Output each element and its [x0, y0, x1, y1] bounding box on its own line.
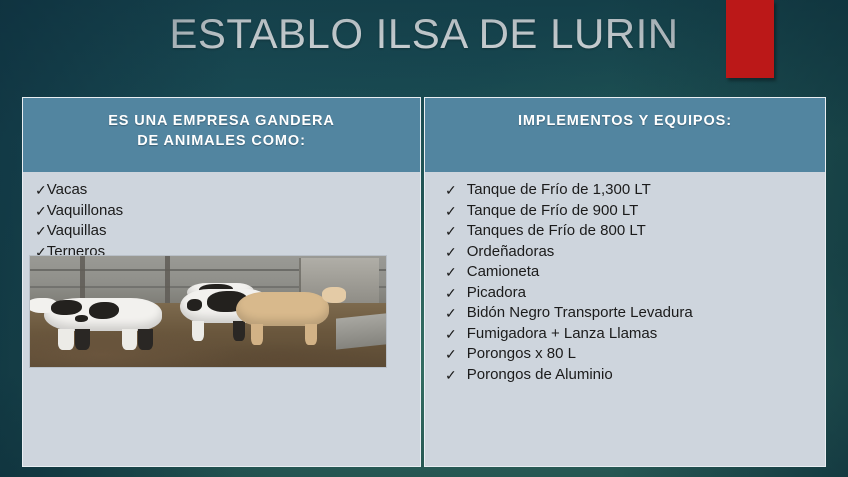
list-item-label: Porongos x 80 L [467, 344, 576, 365]
check-icon: ✓ [35, 221, 47, 242]
feed-trough [336, 313, 386, 349]
right-column-header: IMPLEMENTOS Y EQUIPOS: [425, 98, 825, 172]
list-item: ✓ Porongos x 80 L [445, 344, 815, 365]
list-item-label: Camioneta [467, 262, 540, 283]
cow-leg [305, 324, 317, 345]
list-item: ✓ Vacas [35, 180, 410, 201]
cow-leg [138, 329, 153, 350]
cow-leg [122, 329, 137, 350]
cattle-photo [29, 255, 387, 368]
check-icon: ✓ [35, 180, 47, 201]
check-icon: ✓ [445, 303, 457, 324]
list-item-label: Tanque de Frío de 900 LT [467, 201, 639, 222]
right-column-body: ✓ Tanque de Frío de 1,300 LT ✓ Tanque de… [425, 172, 825, 466]
cow-patch [89, 302, 120, 319]
cow-patch [75, 315, 88, 322]
cow-patch [187, 299, 202, 310]
check-icon: ✓ [445, 262, 457, 283]
list-item: ✓ Tanque de Frío de 1,300 LT [445, 180, 815, 201]
cow-holstein-left [44, 298, 161, 331]
cow-body [236, 292, 329, 326]
check-icon: ✓ [445, 344, 457, 365]
left-header-line-1: ES UNA EMPRESA GANDERA [23, 111, 420, 131]
red-accent-bar [726, 0, 774, 78]
list-item-label: Porongos de Aluminio [467, 365, 613, 386]
check-icon: ✓ [35, 201, 47, 222]
list-item-label: Fumigadora + Lanza Llamas [467, 324, 658, 345]
equipment-list: ✓ Tanque de Frío de 1,300 LT ✓ Tanque de… [435, 180, 815, 385]
list-item: ✓ Picadora [445, 283, 815, 304]
list-item: ✓ Vaquillonas [35, 201, 410, 222]
list-item-label: Vaquillonas [47, 201, 123, 222]
cow-leg [192, 321, 204, 342]
left-column-body: ✓ Vacas ✓ Vaquillonas ✓ Vaquillas ✓ Tern… [23, 172, 420, 466]
cow-jersey-right [236, 292, 329, 326]
cow-leg [75, 329, 90, 350]
list-item: ✓ Tanque de Frío de 900 LT [445, 201, 815, 222]
content-table: ES UNA EMPRESA GANDERA DE ANIMALES COMO:… [22, 97, 826, 467]
list-item-label: Tanque de Frío de 1,300 LT [467, 180, 651, 201]
fence-post [165, 256, 170, 305]
cow-head [322, 287, 346, 303]
page-title: ESTABLO ILSA DE LURIN [0, 8, 848, 60]
check-icon: ✓ [445, 365, 457, 386]
left-header-line-2: DE ANIMALES COMO: [23, 131, 420, 151]
list-item-label: Vaquillas [47, 221, 107, 242]
list-item-label: Bidón Negro Transporte Levadura [467, 303, 693, 324]
left-column-header: ES UNA EMPRESA GANDERA DE ANIMALES COMO: [23, 98, 420, 172]
check-icon: ✓ [445, 283, 457, 304]
cow-leg [251, 324, 263, 345]
check-icon: ✓ [445, 221, 457, 242]
check-icon: ✓ [445, 242, 457, 263]
table-column-left: ES UNA EMPRESA GANDERA DE ANIMALES COMO:… [22, 97, 421, 467]
right-header-line-1: IMPLEMENTOS Y EQUIPOS: [425, 111, 825, 131]
list-item: ✓ Ordeñadoras [445, 242, 815, 263]
list-item: ✓ Porongos de Aluminio [445, 365, 815, 386]
list-item: ✓ Fumigadora + Lanza Llamas [445, 324, 815, 345]
list-item-label: Picadora [467, 283, 526, 304]
list-item-label: Ordeñadoras [467, 242, 555, 263]
list-item-label: Tanques de Frío de 800 LT [467, 221, 646, 242]
table-column-right: IMPLEMENTOS Y EQUIPOS: ✓ Tanque de Frío … [424, 97, 826, 467]
list-item: ✓ Camioneta [445, 262, 815, 283]
list-item: ✓ Vaquillas [35, 221, 410, 242]
slide: ESTABLO ILSA DE LURIN ES UNA EMPRESA GAN… [0, 0, 848, 477]
list-item: ✓ Bidón Negro Transporte Levadura [445, 303, 815, 324]
list-item-label: Vacas [47, 180, 88, 201]
list-item: ✓ Tanques de Frío de 800 LT [445, 221, 815, 242]
check-icon: ✓ [445, 180, 457, 201]
animal-list: ✓ Vacas ✓ Vaquillonas ✓ Vaquillas ✓ Tern… [33, 180, 410, 262]
check-icon: ✓ [445, 201, 457, 222]
cow-leg [58, 329, 73, 350]
check-icon: ✓ [445, 324, 457, 345]
